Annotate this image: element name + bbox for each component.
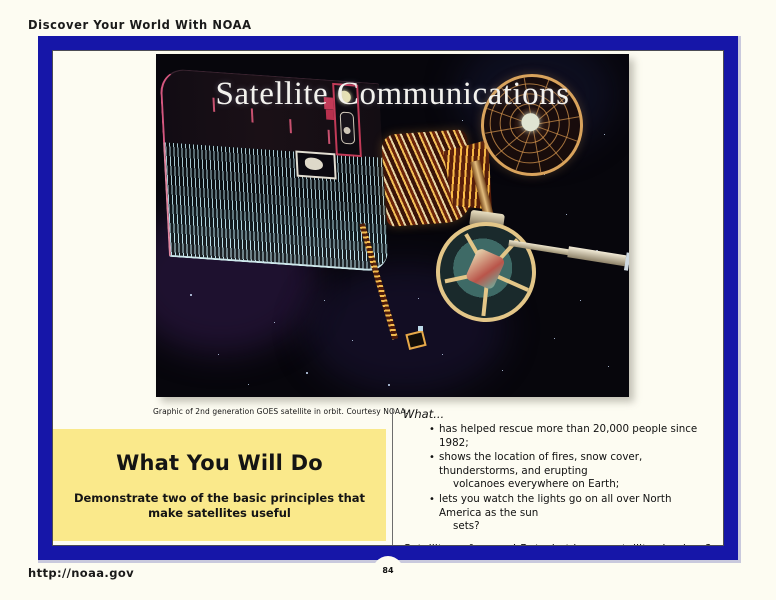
page-content-panel: Satellite Communications Graphic of 2nd … [52,50,724,546]
solar-panel-cells [163,142,389,272]
bullet-text: has helped rescue more than 20,000 peopl… [439,423,697,449]
boom-tip-housing [405,330,426,350]
bullet-text-continued: sets? [439,520,711,534]
satellite-photo: Satellite Communications [156,54,629,397]
column-divider [392,409,393,546]
what-lead-in: What... [403,407,711,421]
list-item: shows the location of fires, snow cover,… [429,451,711,492]
running-head: Discover Your World With NOAA [28,18,252,33]
intro-text-column: What... has helped rescue more than 20,0… [403,407,711,546]
list-item: has helped rescue more than 20,000 peopl… [429,423,711,450]
photo-title: Satellite Communications [156,76,629,113]
instrument-slot [340,111,356,144]
boom-tip-sensor [418,326,423,331]
bullet-text: shows the location of fires, snow cover,… [439,451,642,477]
bullet-text: lets you watch the lights go on all over… [439,493,671,519]
what-you-will-do-subtitle: Demonstrate two of the basic principles … [67,491,372,521]
photo-caption: Graphic of 2nd generation GOES satellite… [153,407,408,416]
closing-paragraph: Satellites, of course! But what keeps sa… [403,541,711,546]
spoked-dish-antenna [431,217,541,327]
page-number: 84 [382,567,393,576]
what-bullet-list: has helped rescue more than 20,000 peopl… [403,423,711,534]
satellite-photo-figure: Satellite Communications [156,54,629,397]
list-item: lets you watch the lights go on all over… [429,493,711,534]
what-you-will-do-heading: What You Will Do [53,451,386,475]
sensor-aperture [295,151,336,180]
bullet-text-continued: volcanoes everywhere on Earth; [439,478,711,492]
what-you-will-do-box: What You Will Do Demonstrate two of the … [53,429,386,541]
running-foot: http://noaa.gov [28,566,134,580]
spoked-dish-hub [465,247,506,290]
